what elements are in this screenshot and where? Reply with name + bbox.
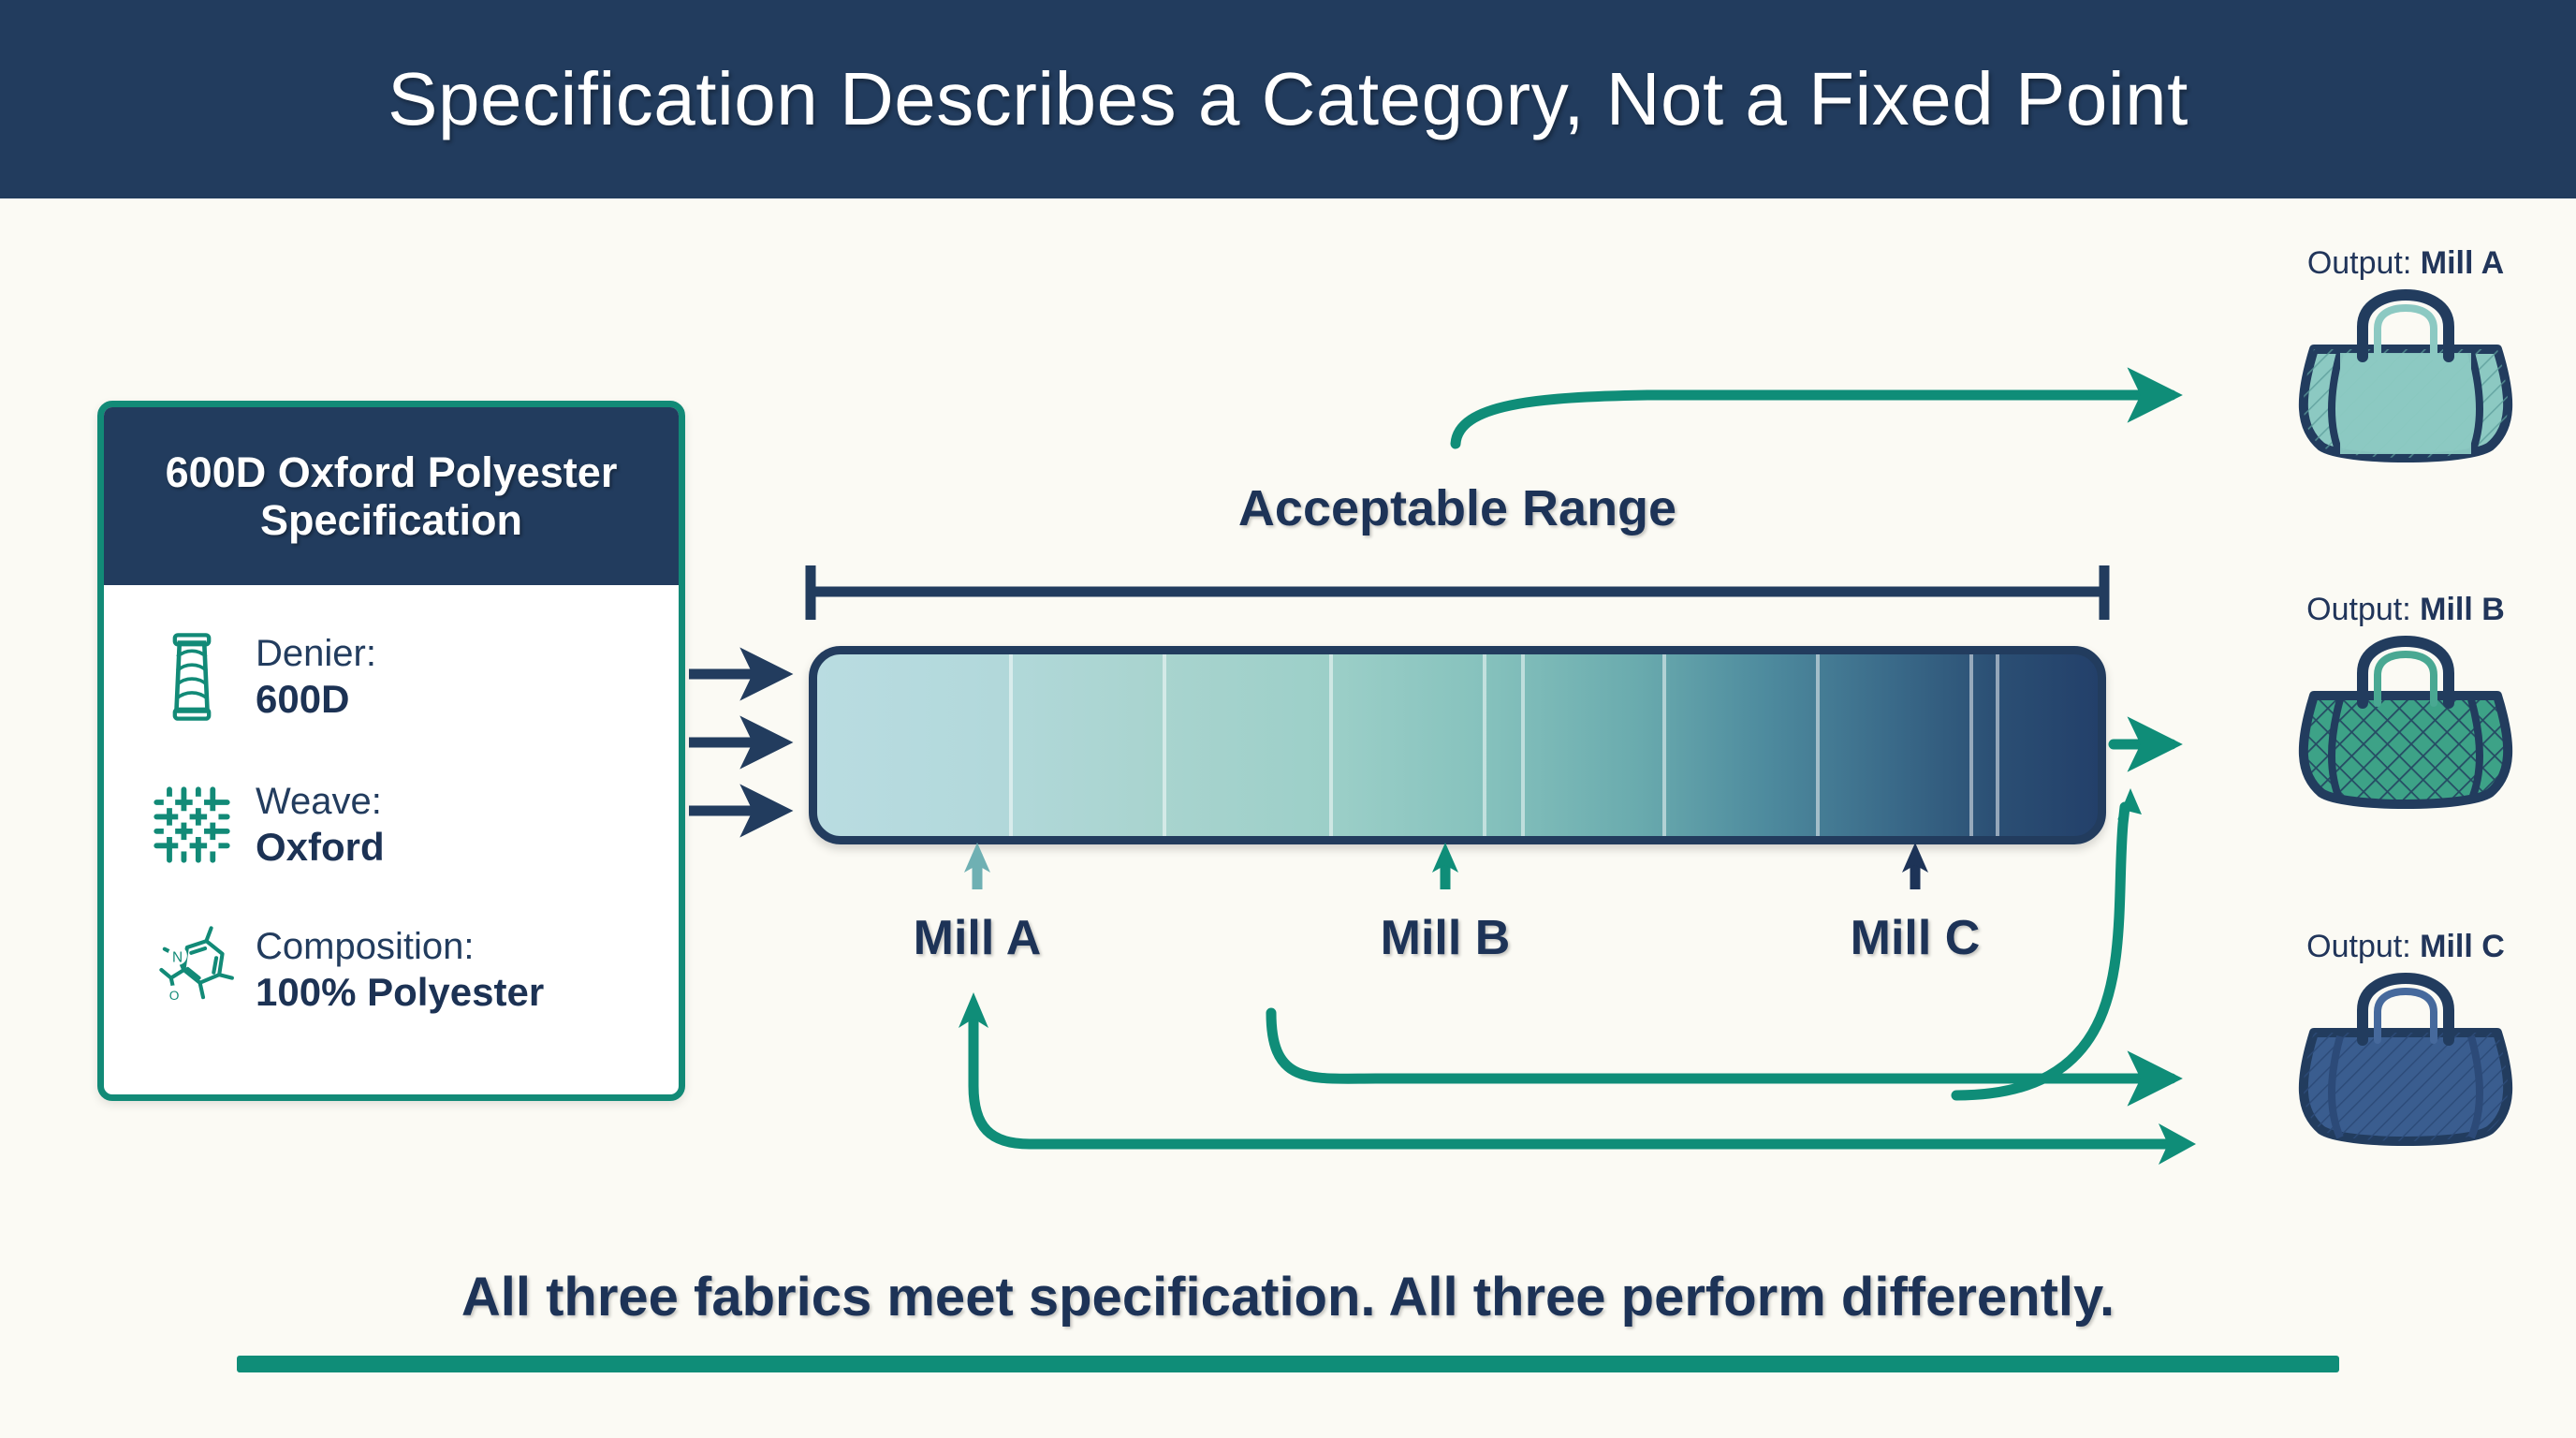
mill-marker-arrows: [964, 843, 1928, 889]
spec-input-arrows: [689, 674, 783, 811]
output-name-b: Mill B: [2420, 592, 2505, 627]
output-prefix-b: Output:: [2306, 592, 2420, 627]
connector-mill-b-to-output-c: [1271, 1013, 2172, 1078]
output-prefix-c: Output:: [2306, 929, 2420, 964]
output-name-c: Mill C: [2420, 929, 2505, 964]
connector-mill-a-to-output: [1456, 395, 2172, 444]
output-caption-mill-a: Output: Mill A: [2209, 245, 2576, 282]
output-group-mill-c: Output: Mill C: [2209, 929, 2576, 1151]
output-caption-mill-c: Output: Mill C: [2209, 929, 2576, 965]
connector-mill-c-to-output-b: [1956, 807, 2125, 1095]
output-prefix-a: Output:: [2307, 245, 2421, 281]
bag-icon-mill-b: [2209, 636, 2576, 814]
output-caption-mill-b: Output: Mill B: [2209, 592, 2576, 628]
output-group-mill-a: Output: Mill A: [2209, 245, 2576, 467]
diagram-connectors: [0, 0, 2576, 1438]
bag-icon-mill-c: [2209, 973, 2576, 1151]
output-name-a: Mill A: [2421, 245, 2504, 281]
caption-underline: [237, 1356, 2339, 1372]
acceptable-range-bracket: [811, 565, 2104, 620]
summary-caption: All three fabrics meet specification. Al…: [0, 1266, 2576, 1328]
output-group-mill-b: Output: Mill B: [2209, 592, 2576, 814]
bag-icon-mill-a: [2209, 289, 2576, 467]
